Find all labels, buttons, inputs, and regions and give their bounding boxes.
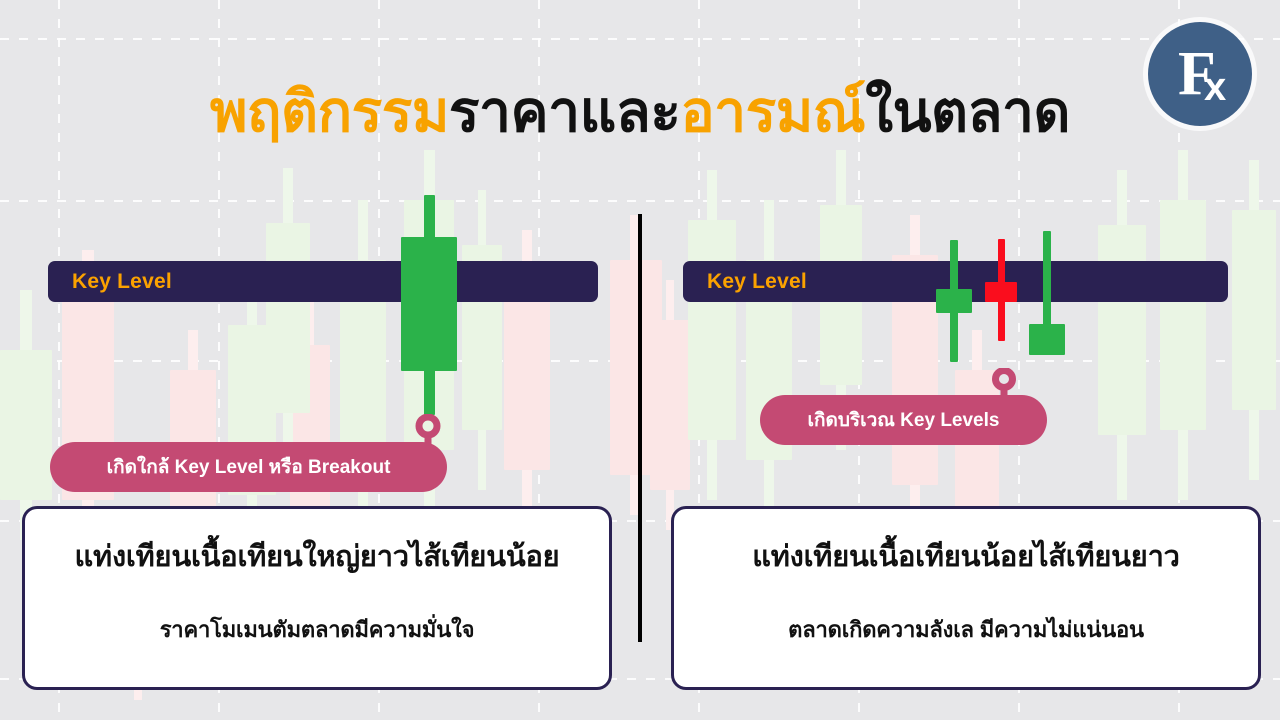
page-title: พฤติกรรมราคาและอารมณ์ในตลาด: [0, 84, 1280, 141]
title-segment-4: ในตลาด: [865, 80, 1070, 144]
card-subtext-left: ราคาโมเมนตัมตลาดมีความมั่นใจ: [160, 612, 475, 647]
candle-bullish-spinning-top: [936, 240, 972, 362]
callout-text-right: เกิดบริเวณ Key Levels: [808, 405, 1000, 435]
key-level-label-left: Key Level: [72, 270, 172, 294]
callout-pill-left: เกิดใกล้ Key Level หรือ Breakout: [50, 442, 447, 492]
panel-divider: [638, 214, 642, 642]
callout-text-left: เกิดใกล้ Key Level หรือ Breakout: [107, 452, 391, 482]
key-level-label-right: Key Level: [707, 270, 807, 294]
key-level-bar-left: Key Level: [48, 261, 598, 302]
title-segment-2: ราคาและ: [449, 80, 681, 144]
candle-bearish-spinning-top: [985, 239, 1017, 341]
card-subtext-right: ตลาดเกิดความลังเล มีความไม่แน่นอน: [788, 612, 1144, 647]
candle-large-bullish: [398, 195, 460, 415]
info-card-right: แท่งเทียนเนื้อเทียนน้อยไส้เทียนยาว ตลาดเ…: [671, 506, 1261, 690]
card-heading-left: แท่งเทียนเนื้อเทียนใหญ่ยาวไส้เทียนน้อย: [75, 533, 560, 579]
info-card-left: แท่งเทียนเนื้อเทียนใหญ่ยาวไส้เทียนน้อย ร…: [22, 506, 612, 690]
title-segment-3: อารมณ์: [680, 80, 865, 144]
title-segment-1: พฤติกรรม: [210, 80, 449, 144]
card-heading-right: แท่งเทียนเนื้อเทียนน้อยไส้เทียนยาว: [752, 533, 1180, 579]
candle-bullish-hammer: [1029, 231, 1065, 355]
infographic-canvas: F x พฤติกรรมราคาและอารมณ์ในตลาด Key Leve…: [0, 0, 1280, 720]
callout-pill-right: เกิดบริเวณ Key Levels: [760, 395, 1047, 445]
